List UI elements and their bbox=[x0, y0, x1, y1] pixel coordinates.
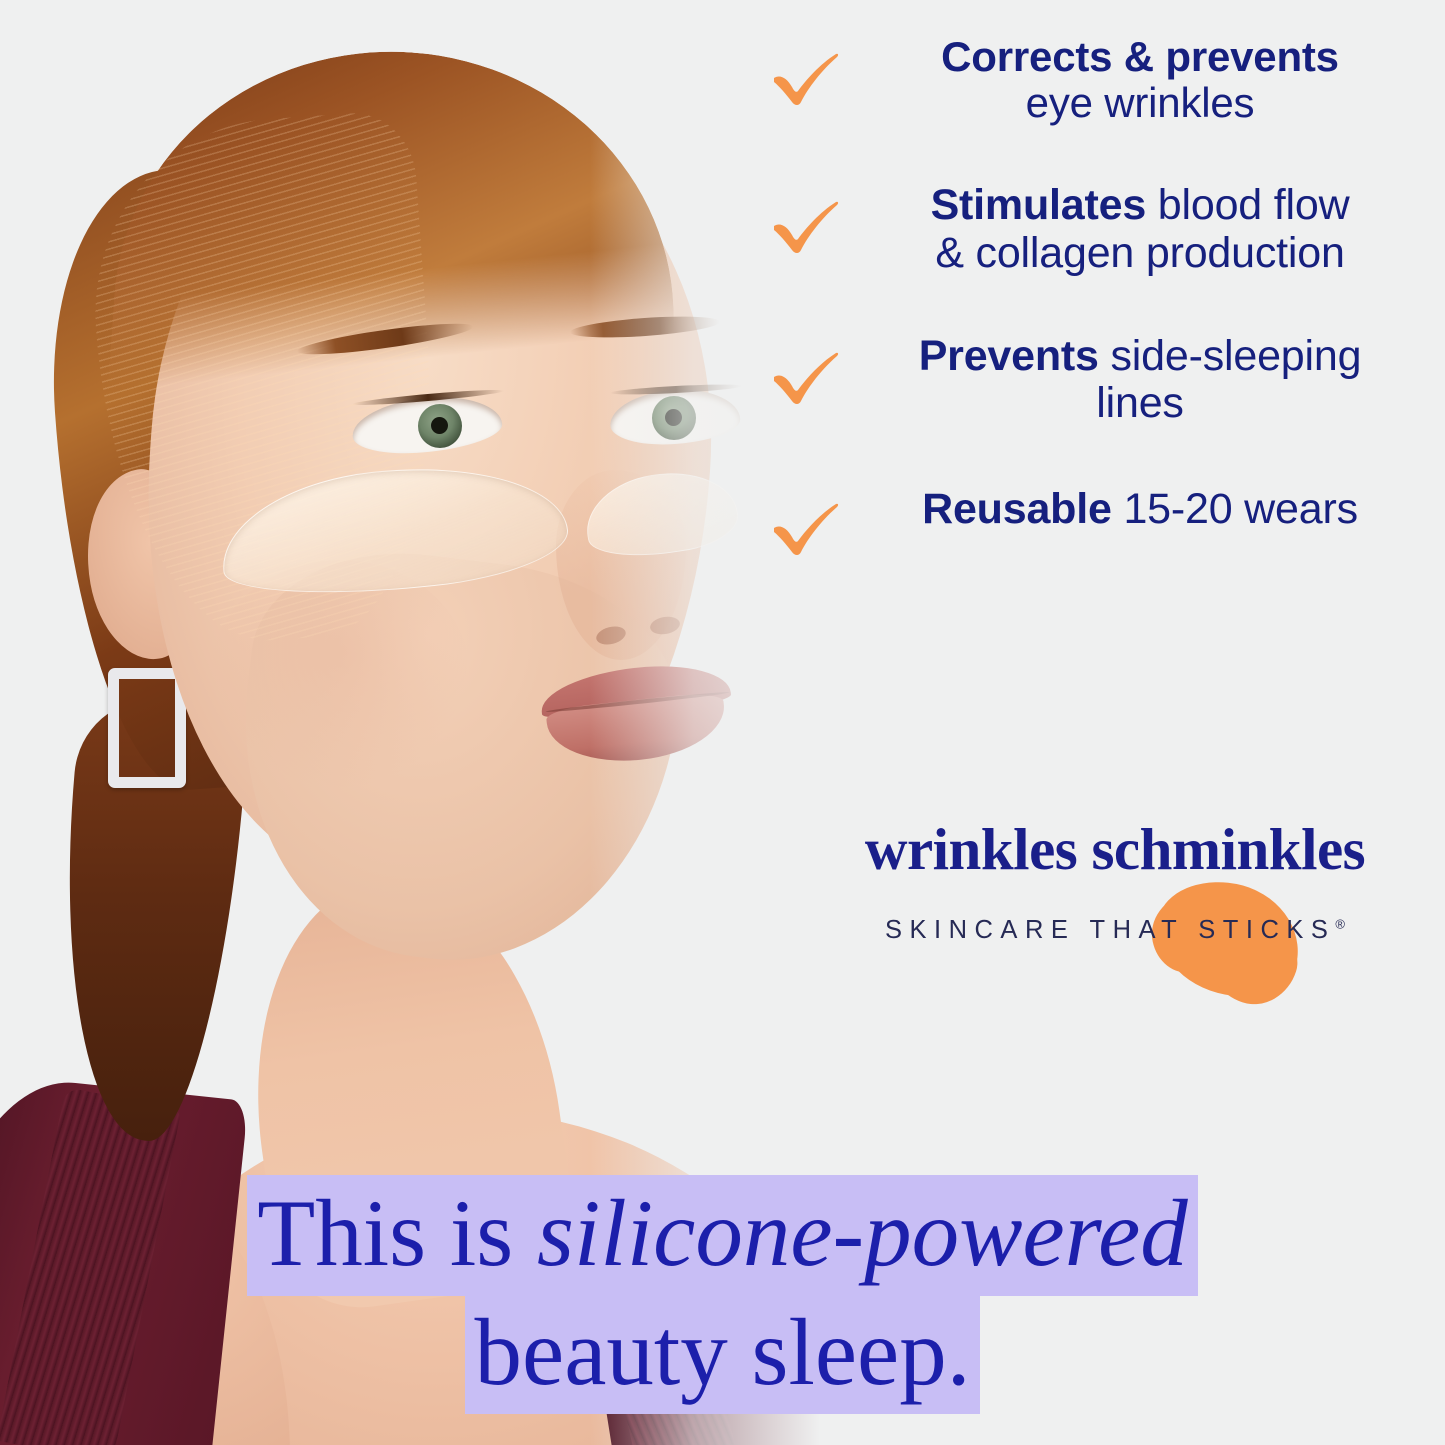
headline-line-1: This is silicone-powered bbox=[0, 1175, 1445, 1296]
benefits-list: Corrects & prevents eye wrinkles Stimula… bbox=[770, 34, 1430, 558]
benefit-bold: Stimulates bbox=[931, 181, 1146, 229]
benefit-rest: eye wrinkles bbox=[1026, 79, 1255, 126]
benefit-text: Prevents side-sleeping lines bbox=[850, 333, 1430, 428]
benefit-bold: Prevents bbox=[919, 332, 1099, 380]
benefit-rest: blood flow bbox=[1146, 181, 1349, 229]
benefit-text: Corrects & prevents eye wrinkles bbox=[850, 34, 1430, 126]
benefit-rest2: & collagen production bbox=[935, 229, 1344, 277]
brand-tagline-text: SKINCARE THAT STICKS bbox=[885, 916, 1335, 944]
silver-hoop-earring-icon bbox=[108, 668, 186, 788]
headline-segment: This is silicone-powered bbox=[247, 1175, 1198, 1296]
benefit-text: Stimulates blood flow & collagen product… bbox=[850, 182, 1430, 277]
check-icon bbox=[770, 498, 850, 558]
pupil-left bbox=[431, 417, 448, 434]
brand-tagline: SKINCARE THAT STICKS® bbox=[805, 889, 1425, 945]
headline-line-2: beauty sleep. bbox=[0, 1294, 1445, 1415]
headline-segment: beauty sleep. bbox=[465, 1294, 981, 1415]
check-icon bbox=[770, 347, 850, 407]
registered-trademark-icon: ® bbox=[1335, 917, 1345, 932]
benefit-item: Stimulates blood flow & collagen product… bbox=[770, 182, 1430, 277]
brand-tagline-wrap: SKINCARE THAT STICKS® bbox=[805, 889, 1425, 977]
headline-tagline: This is silicone-powered beauty sleep. bbox=[0, 1175, 1445, 1414]
check-icon bbox=[770, 196, 850, 256]
headline-plain: This is bbox=[257, 1180, 537, 1286]
headline-plain-2: beauty sleep. bbox=[475, 1299, 971, 1405]
benefit-item: Corrects & prevents eye wrinkles bbox=[770, 34, 1430, 126]
cheek-shading bbox=[210, 560, 470, 790]
benefit-rest: 15-20 wears bbox=[1112, 485, 1358, 533]
benefit-bold: Corrects & prevents bbox=[941, 33, 1339, 80]
benefit-rest: side-sleeping bbox=[1099, 332, 1362, 380]
benefit-item: Reusable 15-20 wears bbox=[770, 484, 1430, 558]
benefit-bold: Reusable bbox=[922, 485, 1112, 533]
benefit-item: Prevents side-sleeping lines bbox=[770, 333, 1430, 428]
benefit-rest2: lines bbox=[1096, 379, 1183, 427]
brand-logo: wrinkles schminkles SKINCARE THAT STICKS… bbox=[805, 820, 1425, 977]
headline-italic: silicone-powered bbox=[537, 1180, 1188, 1286]
check-icon bbox=[770, 48, 850, 108]
ad-canvas: Corrects & prevents eye wrinkles Stimula… bbox=[0, 0, 1445, 1445]
benefit-text: Reusable 15-20 wears bbox=[850, 486, 1430, 533]
brand-wordmark: wrinkles schminkles bbox=[805, 820, 1425, 879]
